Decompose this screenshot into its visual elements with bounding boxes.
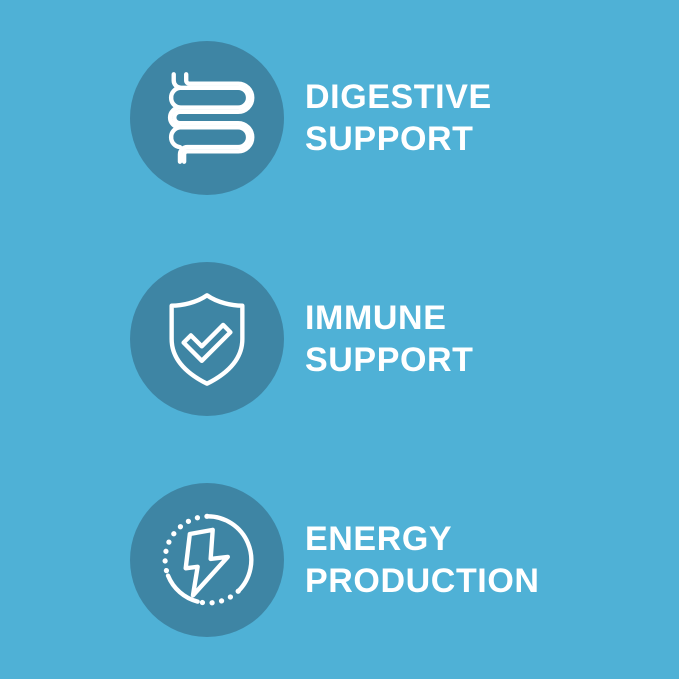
lightning-bolt-circle-icon [155, 508, 259, 612]
intestine-icon [155, 66, 259, 170]
benefit-label-immune: IMMUNE SUPPORT [305, 297, 679, 381]
benefit-label-digestive: DIGESTIVE SUPPORT [305, 76, 679, 160]
benefits-panel: DIGESTIVE SUPPORT IMMUNE SUPPORT [0, 0, 679, 679]
icon-badge-immune [130, 262, 284, 416]
benefit-item-digestive: DIGESTIVE SUPPORT [0, 18, 679, 218]
shield-check-icon [155, 287, 259, 391]
benefit-item-immune: IMMUNE SUPPORT [0, 239, 679, 439]
icon-badge-energy [130, 483, 284, 637]
benefit-item-energy: ENERGY PRODUCTION [0, 460, 679, 660]
icon-badge-digestive [130, 41, 284, 195]
benefit-label-energy: ENERGY PRODUCTION [305, 518, 679, 602]
